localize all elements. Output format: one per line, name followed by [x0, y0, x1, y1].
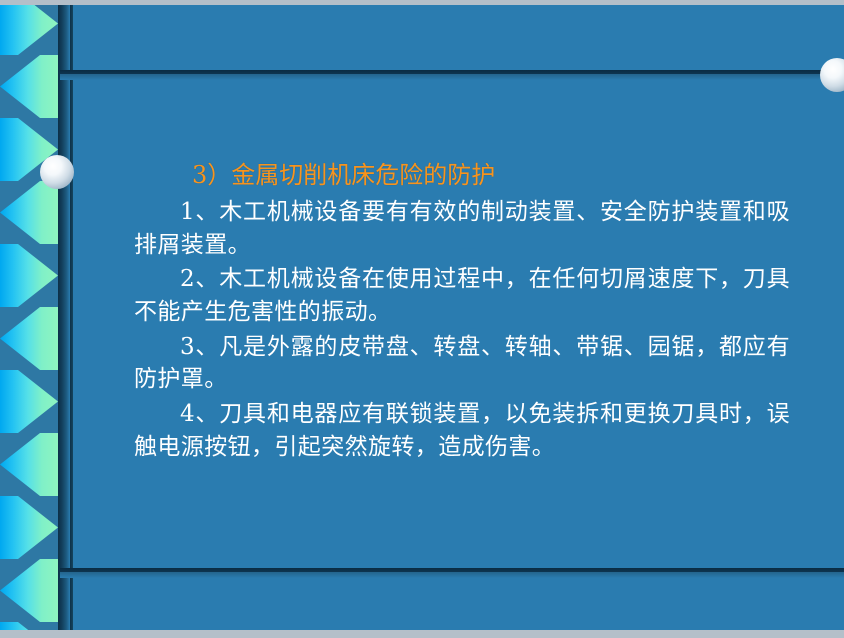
top-divider-bar — [60, 70, 844, 80]
body-paragraph: 2、木工机械设备在使用过程中，在任何切屑速度下，刀具不能产生危害性的振动。 — [134, 263, 790, 328]
content-frame-rule — [70, 4, 73, 632]
body-paragraph: 4、刀具和电器应有联锁装置，以免装拆和更换刀具时，误触电源按钮，引起突然旋转，造… — [134, 398, 790, 463]
presentation-slide: 3）金属切削机床危险的防护 1、木工机械设备要有有效的制动装置、安全防护装置和吸… — [0, 0, 844, 638]
body-text-list: 1、木工机械设备要有有效的制动装置、安全防护装置和吸排屑装置。 2、木工机械设备… — [134, 196, 790, 463]
body-paragraph: 3、凡是外露的皮带盘、转盘、转轴、带锯、园锯，都应有防护罩。 — [134, 331, 790, 396]
ribbon-shadow — [58, 4, 70, 632]
divider-light-line — [60, 572, 844, 578]
slide-title: 3）金属切削机床危险的防护 — [192, 160, 790, 190]
zigzag-ribbon-band — [0, 4, 58, 632]
bottom-divider-bar — [60, 568, 844, 578]
body-paragraph: 1、木工机械设备要有有效的制动装置、安全防护装置和吸排屑装置。 — [134, 196, 790, 261]
top-frame-strip — [0, 0, 844, 5]
glossy-bead-left — [40, 155, 74, 189]
slide-content: 3）金属切削机床危险的防护 1、木工机械设备要有有效的制动装置、安全防护装置和吸… — [74, 80, 826, 564]
bottom-frame-strip — [0, 630, 844, 638]
